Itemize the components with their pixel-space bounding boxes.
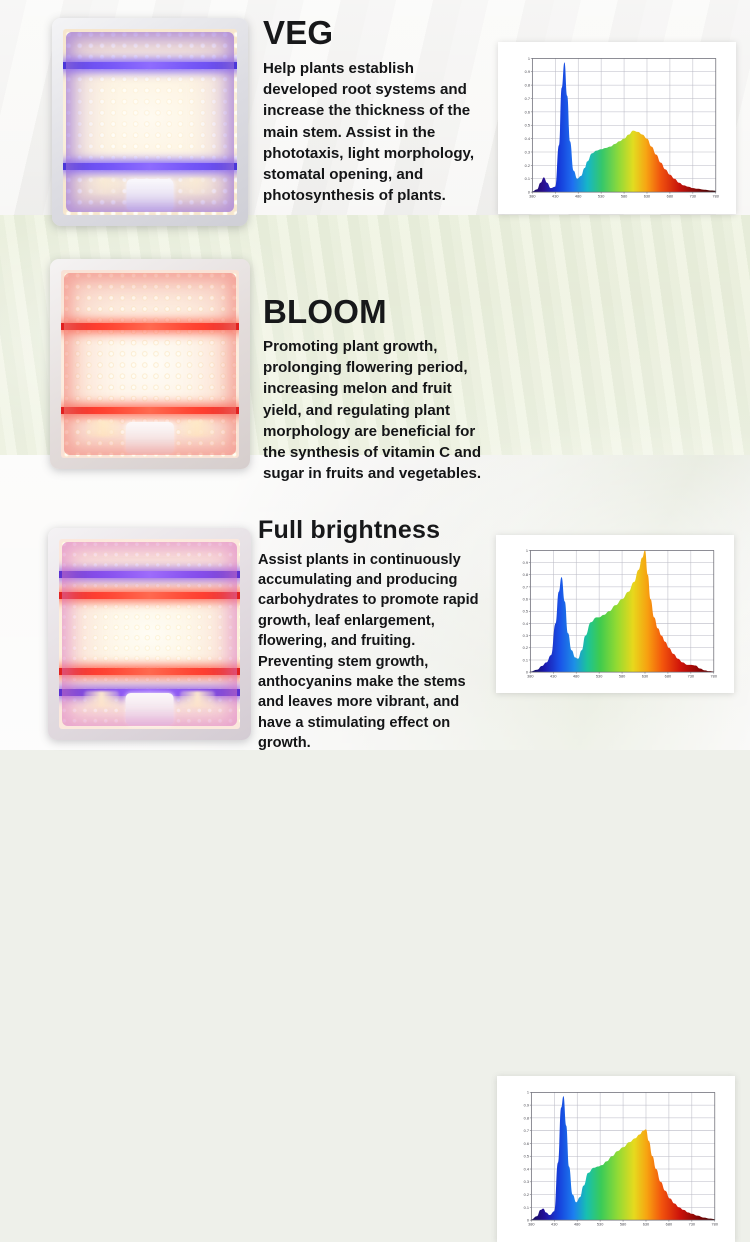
spectrum-chart-veg-svg: 00.10.20.30.40.50.60.70.80.9138043048053…	[504, 48, 729, 210]
svg-text:0.3: 0.3	[524, 1180, 529, 1184]
panel-board	[59, 539, 240, 729]
body-full-brightness: Assist plants in continuously accumulati…	[258, 550, 494, 754]
svg-text:0.9: 0.9	[524, 1104, 529, 1108]
svg-text:0.8: 0.8	[525, 84, 530, 88]
svg-text:0.2: 0.2	[524, 1193, 529, 1197]
svg-text:0.7: 0.7	[524, 1129, 529, 1133]
section-veg: VEG Help plants establish developed root…	[0, 0, 750, 245]
svg-text:0.9: 0.9	[525, 70, 530, 74]
led-bar-right	[180, 691, 214, 708]
red-led-strip-bottom	[61, 407, 239, 414]
spectrum-chart-full-svg: 00.10.20.30.40.50.60.70.80.9138043048053…	[503, 1082, 728, 1238]
svg-text:730: 730	[689, 1222, 695, 1226]
red-led-strip-lower	[59, 668, 240, 675]
panel-board	[63, 29, 237, 215]
blue-led-strip-top	[59, 571, 240, 578]
svg-text:680: 680	[666, 1222, 672, 1226]
svg-text:0.3: 0.3	[525, 150, 530, 154]
red-led-strip-top	[61, 323, 239, 330]
svg-text:730: 730	[690, 194, 696, 198]
text-block-full-brightness: Full brightness Assist plants in continu…	[258, 518, 494, 754]
svg-text:530: 530	[597, 1222, 603, 1226]
svg-text:0.4: 0.4	[524, 1167, 530, 1171]
text-block-bloom: BLOOM Promoting plant growth, prolonging…	[263, 295, 491, 485]
red-led-strip-upper	[59, 592, 240, 599]
panel-housing	[50, 259, 250, 469]
led-bar-right	[180, 178, 213, 195]
driver-module	[125, 693, 174, 725]
led-bar-left	[87, 178, 120, 195]
panel-board	[61, 270, 239, 458]
svg-text:0.7: 0.7	[525, 97, 530, 101]
svg-text:580: 580	[620, 1222, 626, 1226]
blue-led-strip-top	[63, 62, 237, 69]
driver-module	[126, 422, 174, 454]
svg-text:0.1: 0.1	[525, 177, 530, 181]
section-bloom: BLOOM Promoting plant growth, prolonging…	[0, 245, 750, 510]
body-veg: Help plants establish developed root sys…	[263, 58, 491, 207]
blue-led-strip-bottom	[63, 163, 237, 170]
svg-text:0.4: 0.4	[525, 137, 531, 141]
spectrum-chart-veg: 00.10.20.30.40.50.60.70.80.9138043048053…	[498, 42, 736, 214]
heading-bloom: BLOOM	[263, 295, 491, 329]
svg-text:0.8: 0.8	[524, 1116, 529, 1120]
svg-text:630: 630	[644, 194, 650, 198]
driver-module	[127, 179, 174, 211]
svg-text:780: 780	[713, 194, 719, 198]
led-bar-right	[180, 420, 214, 437]
svg-text:0.5: 0.5	[524, 1155, 529, 1159]
svg-text:0.6: 0.6	[525, 110, 530, 114]
svg-text:1: 1	[527, 1091, 529, 1095]
svg-text:0.2: 0.2	[525, 164, 530, 168]
svg-text:630: 630	[643, 1222, 649, 1226]
svg-text:1: 1	[528, 57, 530, 61]
section-full-brightness: Full brightness Assist plants in continu…	[0, 510, 750, 750]
svg-text:0.1: 0.1	[524, 1206, 529, 1210]
body-bloom: Promoting plant growth, prolonging flowe…	[263, 336, 491, 485]
svg-text:680: 680	[667, 194, 673, 198]
svg-text:430: 430	[551, 1222, 557, 1226]
led-panel-veg	[52, 18, 248, 226]
svg-text:780: 780	[712, 1222, 718, 1226]
svg-text:480: 480	[575, 194, 581, 198]
panel-housing	[52, 18, 248, 226]
led-bar-left	[84, 691, 118, 708]
svg-text:0.6: 0.6	[524, 1142, 529, 1146]
svg-text:0.5: 0.5	[525, 124, 530, 128]
svg-text:430: 430	[552, 194, 558, 198]
svg-text:530: 530	[598, 194, 604, 198]
heading-veg: VEG	[263, 16, 491, 50]
spectrum-chart-full-brightness: 00.10.20.30.40.50.60.70.80.9138043048053…	[497, 1076, 735, 1242]
svg-text:480: 480	[574, 1222, 580, 1226]
heading-full-brightness: Full brightness	[258, 518, 494, 544]
led-panel-bloom	[50, 259, 250, 469]
led-bar-left	[86, 420, 120, 437]
svg-text:380: 380	[528, 1222, 534, 1226]
svg-text:380: 380	[529, 194, 535, 198]
led-panel-full-brightness	[48, 528, 251, 740]
text-block-veg: VEG Help plants establish developed root…	[263, 16, 491, 207]
panel-housing	[48, 528, 251, 740]
svg-text:580: 580	[621, 194, 627, 198]
